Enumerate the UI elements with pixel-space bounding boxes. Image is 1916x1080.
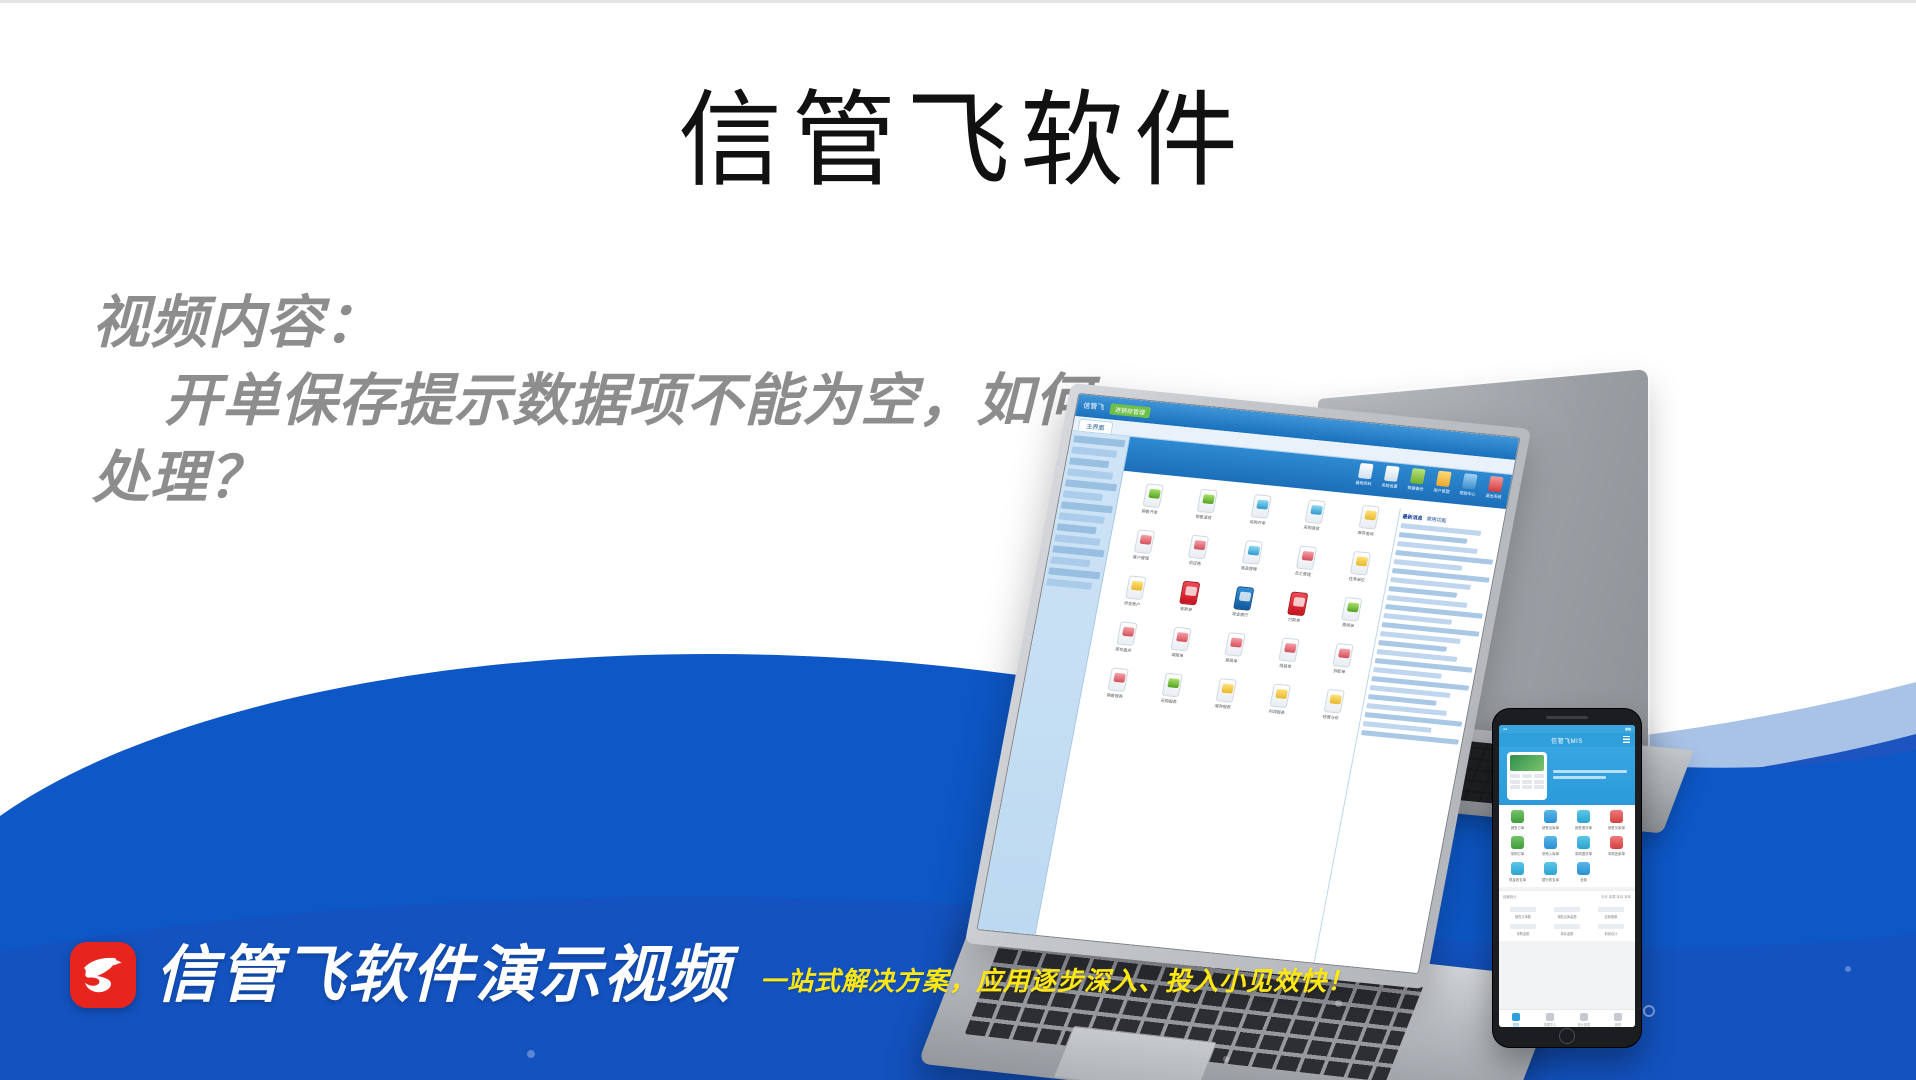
phone-grid-item[interactable]: 销售欠款单 — [1601, 810, 1632, 830]
grid-label: 资金账户 — [1124, 600, 1141, 607]
hero-rows — [1510, 774, 1544, 789]
sidebar-item[interactable] — [1061, 501, 1113, 513]
hero-cell — [1510, 785, 1520, 789]
hero-cell — [1534, 785, 1544, 789]
sidebar-item[interactable] — [1069, 457, 1109, 468]
toolbar-button[interactable]: 系统设置 — [1379, 465, 1401, 495]
sidebar-item[interactable] — [1067, 468, 1113, 479]
phone-grid-label: 销售订单 — [1511, 826, 1525, 830]
grid-icon — [1349, 551, 1370, 576]
grid-label: 库存盘点 — [1115, 646, 1132, 653]
app-grid-icon[interactable]: 拆卸单 — [1312, 641, 1370, 686]
app-grid-icon[interactable]: 库存查询 — [1338, 503, 1396, 548]
grid-label: 供应商 — [1188, 560, 1201, 566]
grid-icon — [1287, 591, 1308, 616]
grid-label: 现金银行 — [1232, 611, 1249, 618]
toolbar-icon — [1462, 473, 1478, 489]
app-grid-icon[interactable]: 采购报表 — [1141, 671, 1199, 716]
grid-label: 付款单 — [1288, 617, 1301, 623]
hero-cell — [1522, 774, 1532, 778]
grid-icon — [1341, 597, 1362, 622]
range-today[interactable]: 今天 — [1601, 895, 1608, 899]
grid-icon — [1215, 678, 1236, 703]
app-grid-icon[interactable]: 经营分析 — [1303, 687, 1361, 732]
right-panel-row — [1361, 730, 1459, 745]
phone-grid-item[interactable]: 销售退货单 — [1568, 810, 1599, 830]
laptop-open: 信管飞 进销存管理 主界面 — [940, 406, 1560, 1006]
app-window-badge: 进销存管理 — [1109, 403, 1151, 418]
app-grid-icon[interactable]: 库存报表 — [1195, 676, 1253, 721]
decorative-dot-ring — [1643, 1005, 1655, 1017]
range-month[interactable]: 本月 — [1616, 895, 1623, 899]
grid-icon — [1196, 489, 1217, 514]
app-grid-icon[interactable]: 组装单 — [1258, 636, 1316, 681]
sidebar-item[interactable] — [1048, 567, 1100, 579]
status-right: ▮▮▮ — [1625, 727, 1631, 731]
grid-icon — [1332, 643, 1353, 668]
phone-hero-banner — [1499, 747, 1635, 805]
laptop-screen: 信管飞 进销存管理 主界面 — [976, 393, 1520, 974]
sidebar-item[interactable] — [1059, 512, 1105, 523]
footer-branding: 信管飞软件演示视频 一站式解决方案，应用逐步深入、投入小见效快！ — [0, 930, 1916, 1080]
grid-label: 调拨单 — [1171, 652, 1184, 658]
toolbar-label: 帮助中心 — [1459, 490, 1476, 497]
stat-cell: 销售出库金额 — [1546, 907, 1588, 919]
app-window-title: 信管飞 — [1082, 401, 1105, 413]
app-grid-icon[interactable]: 报损单 — [1204, 630, 1262, 675]
app-grid-icon[interactable]: 调拨单 — [1150, 625, 1208, 670]
phone-icon-grid[interactable]: 销售订单 销售出库单 销售退货单 销售欠款单 采购订单 采购入库单 采购退货单 … — [1499, 805, 1635, 887]
phone-grid-icon — [1544, 810, 1557, 823]
toolbar-button[interactable]: 基础资料 — [1353, 463, 1375, 493]
range-year[interactable]: 本年 — [1624, 895, 1631, 899]
phone-grid-item[interactable]: 采购还款单 — [1601, 836, 1632, 856]
app-grid-icon[interactable]: 现金银行 — [1213, 584, 1271, 629]
grid-label: 组装单 — [1279, 663, 1292, 669]
app-grid-icon[interactable]: 往来单位 — [1330, 549, 1388, 594]
grid-label: 采购开单 — [1249, 519, 1266, 526]
toolbar-icon — [1358, 463, 1374, 479]
app-grid-icon[interactable]: 采购退货 — [1284, 498, 1342, 543]
grid-label: 销售报表 — [1106, 692, 1123, 699]
stat-label: 销售订单数 — [1515, 915, 1531, 919]
stat-value — [1598, 907, 1623, 912]
phone-status-bar: ●● ▮▮▮ — [1499, 725, 1635, 733]
grid-icon — [1233, 586, 1254, 611]
toolbar-label: 用户管理 — [1433, 488, 1450, 495]
decorative-dot — [1335, 1000, 1342, 1007]
phone-app-title: 信管飞MIS — [1551, 736, 1583, 745]
grid-label: 客户管理 — [1132, 554, 1149, 561]
toolbar-label: 系统设置 — [1381, 482, 1398, 489]
phone-grid-label: 采购还款单 — [1608, 852, 1625, 856]
phone-grid-item[interactable]: 采购退货单 — [1568, 836, 1599, 856]
grid-icon — [1241, 540, 1262, 565]
grid-icon — [1133, 529, 1154, 554]
grid-label: 收款单 — [1180, 606, 1193, 612]
hero-cell — [1534, 780, 1544, 784]
grid-label: 经营分析 — [1322, 714, 1339, 721]
toolbar-icon — [1488, 476, 1504, 492]
stat-value — [1510, 907, 1535, 912]
phone-grid-item-empty — [1601, 862, 1632, 882]
grid-icon — [1323, 689, 1344, 714]
phone-app-bar: 信管飞MIS — [1499, 733, 1635, 747]
grid-label: 往来单位 — [1348, 576, 1365, 583]
app-grid-icon[interactable]: 库存盘点 — [1096, 620, 1154, 665]
sidebar-item[interactable] — [1052, 545, 1104, 557]
phone-grid-icon — [1577, 836, 1590, 849]
hero-cell — [1510, 780, 1520, 784]
toolbar-icon — [1410, 468, 1426, 484]
grid-label: 库存报表 — [1214, 703, 1231, 710]
stat-value — [1510, 924, 1535, 929]
brand-logo — [70, 942, 136, 1008]
sidebar-item[interactable] — [1056, 523, 1096, 534]
stat-value — [1598, 924, 1623, 929]
top-divider — [0, 0, 1916, 3]
grid-label: 商品管理 — [1240, 565, 1257, 572]
toolbar-label: 退出系统 — [1485, 493, 1502, 500]
phone-grid-item[interactable]: 采购订单 — [1502, 836, 1533, 856]
app-grid-icon[interactable]: 商品管理 — [1222, 538, 1280, 583]
grid-icon — [1295, 545, 1316, 570]
slide-title: 信管飞软件 — [0, 82, 1916, 198]
phone-grid-label: 银行收支单 — [1542, 878, 1559, 882]
logo-glyph-icon — [70, 942, 136, 1008]
grid-label: 库存查询 — [1357, 530, 1374, 537]
phone-grid-item[interactable]: 销售订单 — [1502, 810, 1533, 830]
phone-grid-item[interactable]: 现金收支单 — [1502, 862, 1533, 882]
grid-icon — [1179, 581, 1200, 606]
phone-grid-label: 现金收支单 — [1509, 878, 1526, 882]
phone-grid-label: 销售欠款单 — [1608, 826, 1625, 830]
phone-grid-icon — [1511, 810, 1524, 823]
phone-stats-header: 经营统计 今天 本周 本月 本年 — [1499, 890, 1635, 902]
toolbar-button[interactable]: 帮助中心 — [1457, 473, 1479, 503]
decorative-dot — [1845, 966, 1851, 972]
sidebar-item[interactable] — [1073, 435, 1125, 447]
stat-cell: 应收账款 — [1590, 907, 1632, 919]
stats-title: 经营统计 — [1503, 894, 1517, 899]
grid-label: 利润报表 — [1268, 709, 1285, 716]
grid-icon — [1125, 575, 1146, 600]
brand-title: 信管飞软件演示视频 — [155, 924, 731, 1014]
stat-cell: 销售订单数 — [1502, 907, 1544, 919]
toolbar-button[interactable]: 数据备份 — [1405, 468, 1427, 498]
grid-label: 费用单 — [1342, 622, 1355, 628]
app-grid-icon[interactable]: 利润报表 — [1249, 682, 1307, 727]
brand-tagline: 一站式解决方案，应用逐步深入、投入小见效快！ — [760, 961, 1354, 998]
phone-grid-label: 采购退货单 — [1575, 852, 1592, 856]
hero-cell — [1534, 774, 1544, 778]
grid-icon — [1161, 673, 1182, 698]
grid-icon — [1304, 499, 1325, 524]
phone-grid-item[interactable]: 全部 — [1568, 862, 1599, 882]
hero-cell — [1522, 785, 1532, 789]
phone-grid-icon — [1544, 862, 1557, 875]
hamburger-icon[interactable] — [1623, 736, 1630, 743]
phone-grid-icon — [1577, 862, 1590, 875]
grid-icon — [1269, 683, 1290, 708]
sidebar-item[interactable] — [1071, 446, 1117, 457]
hero-line — [1553, 776, 1606, 779]
stats-ranges[interactable]: 今天 本周 本月 本年 — [1601, 894, 1631, 899]
app-grid-icon[interactable]: 销售退货 — [1176, 487, 1234, 532]
phone-grid-label: 销售出库单 — [1542, 826, 1559, 830]
phone-grid-item[interactable]: 采购入库单 — [1535, 836, 1566, 856]
app-grid-icon[interactable]: 付款单 — [1267, 590, 1325, 635]
phone-grid-item[interactable]: 银行收支单 — [1535, 862, 1566, 882]
body-label: 视频内容： — [92, 291, 382, 355]
hero-cell — [1522, 780, 1532, 784]
app-grid-icon[interactable]: 资金账户 — [1105, 574, 1163, 619]
grid-label: 销售开单 — [1141, 508, 1158, 515]
presentation-slide: 信管飞软件 视频内容： 开单保存提示数据项不能为空，如何处理？ 信管飞 进销存管… — [0, 0, 1916, 1080]
phone-grid-icon — [1610, 810, 1623, 823]
grid-icon — [1170, 627, 1191, 652]
grid-icon — [1107, 667, 1128, 692]
hero-text — [1553, 770, 1627, 782]
grid-label: 销售退货 — [1195, 514, 1212, 521]
right-tab-other[interactable]: 常用功能 — [1426, 515, 1447, 524]
grid-icon — [1116, 621, 1137, 646]
phone-grid-icon — [1610, 836, 1623, 849]
stat-value — [1554, 907, 1579, 912]
app-body: 基础资料 系统设置 数据备份 用户管理 帮助中心 退出系统 销售开单 销售退货 — [978, 431, 1513, 973]
decorative-dot — [1223, 1056, 1229, 1062]
status-left: ●● — [1503, 727, 1507, 731]
sidebar-item[interactable] — [1046, 578, 1092, 589]
grid-icon — [1187, 535, 1208, 560]
phone-grid-item[interactable]: 销售出库单 — [1535, 810, 1566, 830]
hero-image — [1510, 755, 1544, 771]
app-grid-icon[interactable]: 销售报表 — [1087, 666, 1145, 711]
grid-label: 员工管理 — [1294, 571, 1311, 578]
sidebar-item[interactable] — [1063, 490, 1103, 501]
sidebar-item[interactable] — [1065, 479, 1117, 491]
decorative-dot — [527, 1050, 535, 1058]
sidebar-item[interactable] — [1054, 534, 1100, 545]
grid-label: 拆卸单 — [1333, 668, 1346, 674]
phone-grid-label: 采购订单 — [1511, 852, 1525, 856]
toolbar-label: 数据备份 — [1407, 485, 1424, 492]
grid-label: 采购退货 — [1303, 525, 1320, 532]
toolbar-icon — [1384, 466, 1400, 482]
phone-grid-icon — [1544, 836, 1557, 849]
laptop-open-lid: 信管飞 进销存管理 主界面 — [965, 383, 1531, 989]
hero-cell — [1510, 774, 1520, 778]
range-week[interactable]: 本周 — [1609, 895, 1616, 899]
hero-line — [1553, 770, 1627, 773]
toolbar-label: 基础资料 — [1355, 480, 1372, 487]
phone-grid-icon — [1511, 836, 1524, 849]
app-grid-icon[interactable]: 销售开单 — [1122, 482, 1180, 527]
app-grid-icon[interactable]: 费用单 — [1321, 595, 1379, 640]
grid-icon — [1142, 483, 1163, 508]
app-grid-icon[interactable]: 客户管理 — [1114, 528, 1172, 573]
stat-label: 销售出库金额 — [1557, 915, 1576, 919]
grid-icon — [1278, 637, 1299, 662]
phone-grid-label: 全部 — [1580, 878, 1587, 882]
toolbar-button[interactable]: 退出系统 — [1483, 476, 1505, 506]
grid-icon — [1224, 632, 1245, 657]
toolbar-icon — [1436, 471, 1452, 487]
phone-grid-label: 采购入库单 — [1542, 852, 1559, 856]
right-tab-active[interactable]: 最新消息 — [1402, 513, 1423, 522]
app-grid-icon[interactable]: 收款单 — [1159, 579, 1217, 624]
phone-grid-label: 销售退货单 — [1575, 826, 1592, 830]
hero-card — [1507, 752, 1547, 800]
app-grid-icon[interactable]: 采购开单 — [1230, 492, 1288, 537]
app-grid-icon[interactable]: 员工管理 — [1276, 544, 1334, 589]
grid-icon — [1358, 505, 1379, 530]
sidebar-item[interactable] — [1050, 556, 1090, 567]
stat-label: 应收账款 — [1605, 915, 1618, 919]
app-grid-icon[interactable]: 供应商 — [1168, 533, 1226, 578]
stat-value — [1554, 924, 1579, 929]
desktop-erp-app: 信管飞 进销存管理 主界面 — [978, 394, 1520, 973]
device-showcase-image: 信管飞 进销存管理 主界面 — [880, 378, 1916, 938]
grid-icon — [1250, 494, 1271, 519]
toolbar-button[interactable]: 用户管理 — [1431, 471, 1453, 501]
grid-label: 报损单 — [1225, 657, 1238, 663]
phone-grid-icon — [1511, 862, 1524, 875]
grid-label: 采购报表 — [1160, 698, 1177, 705]
phone-grid-icon — [1577, 810, 1590, 823]
